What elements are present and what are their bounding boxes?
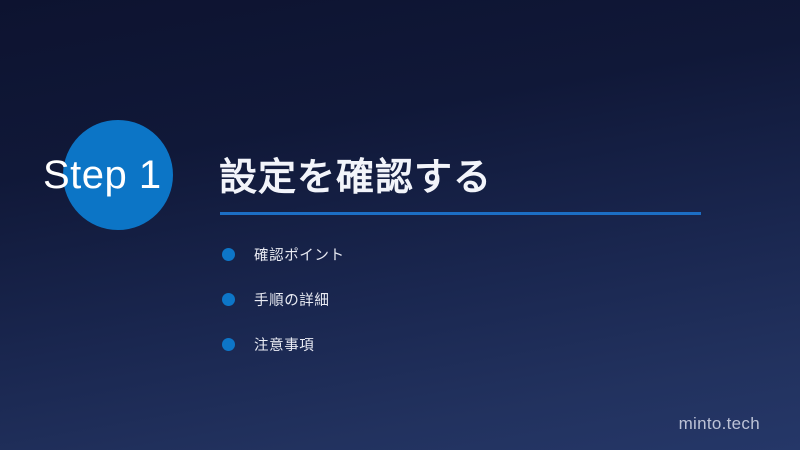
list-item: 手順の詳細	[220, 277, 690, 322]
dot-bullet-icon	[222, 248, 235, 261]
title-divider	[220, 212, 701, 215]
presentation-slide: Step 1 設定を確認する 確認ポイント 手順の詳細 注意事項 minto.t…	[0, 0, 800, 450]
dot-bullet-icon	[222, 293, 235, 306]
step-badge-label: Step 1	[43, 149, 223, 201]
watermark-label: minto.tech	[679, 414, 760, 434]
bullet-list: 確認ポイント 手順の詳細 注意事項	[220, 232, 690, 367]
list-item: 確認ポイント	[220, 232, 690, 277]
list-item: 注意事項	[220, 322, 690, 367]
slide-title: 設定を確認する	[219, 146, 492, 201]
dot-bullet-icon	[222, 338, 235, 351]
list-item-label: 手順の詳細	[254, 289, 330, 310]
list-item-label: 注意事項	[254, 334, 314, 355]
list-item-label: 確認ポイント	[254, 244, 345, 265]
